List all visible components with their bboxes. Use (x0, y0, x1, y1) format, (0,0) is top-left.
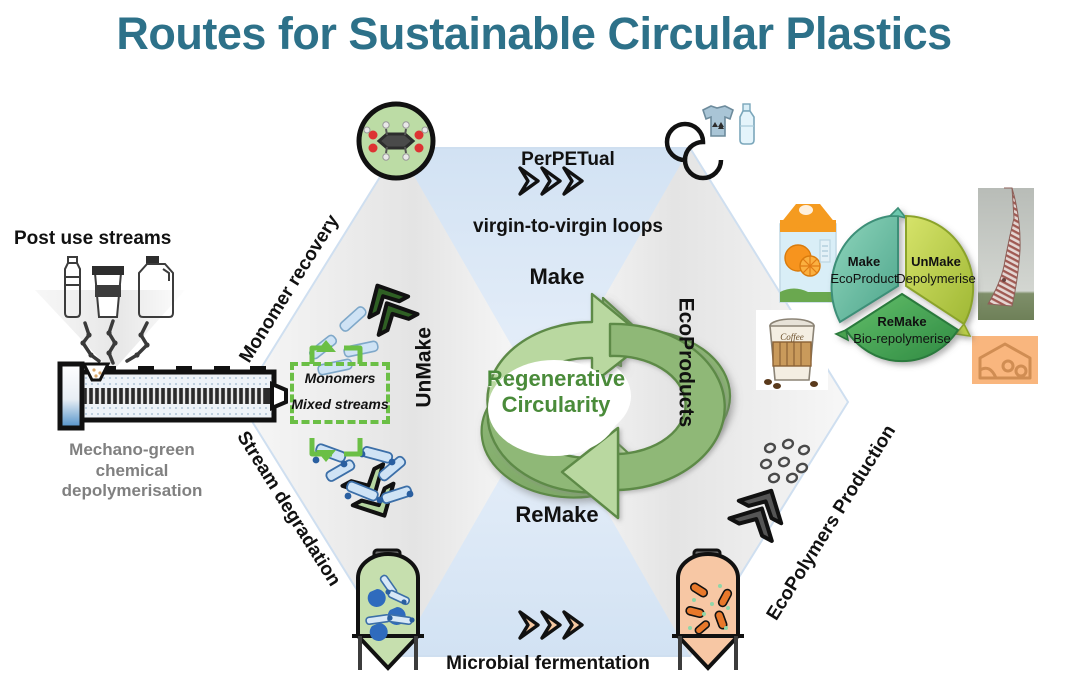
pie-make-subtitle: EcoProduct (830, 271, 898, 286)
microbial-chevron-right-triple-icon (516, 608, 600, 642)
ecopolymers-chevron-icon (730, 466, 802, 544)
center-line-2: Circularity (446, 392, 666, 418)
extruder-caption: Mechano-green chemical depolymerisation (42, 440, 222, 502)
coffee-cup-icon (93, 267, 123, 317)
perpetual-chevron-right-triple-icon (516, 164, 600, 198)
pie-make-title: Make (848, 254, 881, 269)
striped-textile-column-photo (978, 188, 1034, 320)
fermenter-tank-bacteria-icon (664, 548, 760, 676)
make-unmake-remake-pie-wheel: Make EcoProduct UnMake Depolymerise ReMa… (818, 204, 986, 380)
twin-screw-extruder-icon (60, 358, 290, 434)
diagram-canvas: Routes for Sustainable Circular Plastics (0, 0, 1068, 689)
pie-remake-subtitle: Bio-repolymerise (853, 331, 951, 346)
post-use-streams-heading: Post use streams (14, 228, 171, 250)
extruder-caption-line-1: Mechano-green (42, 440, 222, 461)
pie-unmake-subtitle: Depolymerise (896, 271, 975, 286)
terephthalic-acid-molecule-icon (353, 98, 439, 184)
arrow-down-icon (312, 438, 360, 462)
extruder-caption-line-3: depolymerisation (42, 481, 222, 502)
infinity-loop-icon (655, 96, 773, 192)
fermenter-tank-enzymes-icon (344, 548, 440, 676)
post-use-waste-icons (55, 255, 185, 370)
extruder-caption-line-2: chemical (42, 461, 222, 482)
milk-jug-icon (139, 257, 173, 317)
microbial-fermentation-label: Microbial fermentation (428, 653, 668, 675)
label-ecoproducts: EcoProducts (673, 282, 698, 442)
plastic-bottle-icon (740, 104, 754, 144)
mixed-streams-label: Mixed streams (288, 396, 392, 412)
monomers-label: Monomers (292, 370, 388, 386)
center-line-1: Regenerative (446, 366, 666, 392)
tshirt-recycle-icon (703, 106, 733, 136)
label-remake: ReMake (487, 502, 627, 528)
pie-unmake-title: UnMake (911, 254, 961, 269)
pie-remake-title: ReMake (877, 314, 926, 329)
water-bottle-icon (65, 257, 80, 317)
center-label: Regenerative Circularity (446, 366, 666, 418)
perpetual-line-2: virgin-to-virgin loops (428, 216, 708, 238)
label-unmake: UnMake (413, 307, 438, 427)
svg-text:Coffee: Coffee (780, 332, 804, 342)
arrow-up-icon (312, 340, 360, 364)
